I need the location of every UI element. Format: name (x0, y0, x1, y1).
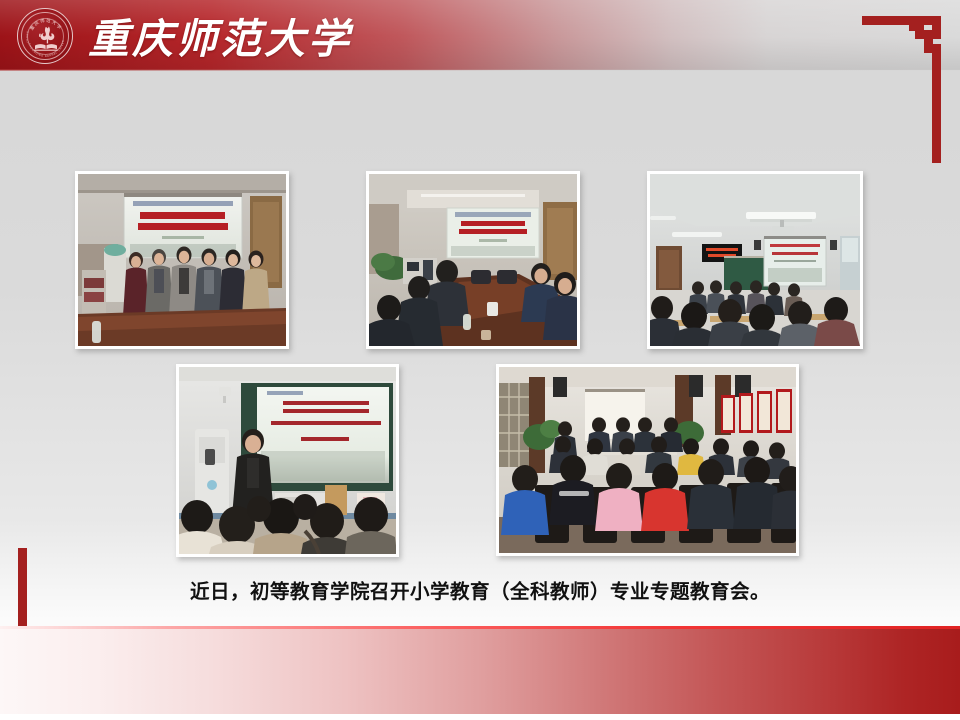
slide-caption: 近日，初等教育学院召开小学教育（全科教师）专业专题教育会。 (0, 575, 960, 604)
photo-group-portrait-meeting-room (75, 171, 289, 349)
university-seal-logo: 重庆师范大学 CHONGQING NORMAL UNIVERSITY CHONG… (17, 8, 73, 64)
footer-bottom-edge (0, 714, 960, 720)
svg-text:CHONGQING: CHONGQING (18, 9, 30, 43)
photo-speaker-addressing-students (176, 364, 399, 557)
photo-image (78, 174, 286, 346)
photo-classroom-audience-projector (647, 171, 863, 349)
page-header: 重庆师范大学 CHONGQING NORMAL UNIVERSITY CHONG… (0, 0, 960, 70)
chinese-corner-bracket-top-right-icon (862, 8, 950, 172)
presentation-slide: 重庆师范大学 CHONGQING NORMAL UNIVERSITY CHONG… (0, 0, 960, 720)
photo-image (499, 367, 796, 553)
header-underline (0, 69, 960, 71)
photo-auditorium-panel-session (496, 364, 799, 556)
footer-gradient-band (0, 629, 960, 714)
page-title: 重庆师范大学 (88, 4, 352, 66)
seal-emblem-icon: 重庆师范大学 CHONGQING NORMAL UNIVERSITY CHONG… (18, 9, 74, 65)
photo-conference-table-discussion (366, 171, 580, 349)
photo-image (179, 367, 396, 554)
photo-image (650, 174, 860, 346)
photo-image (369, 174, 577, 346)
